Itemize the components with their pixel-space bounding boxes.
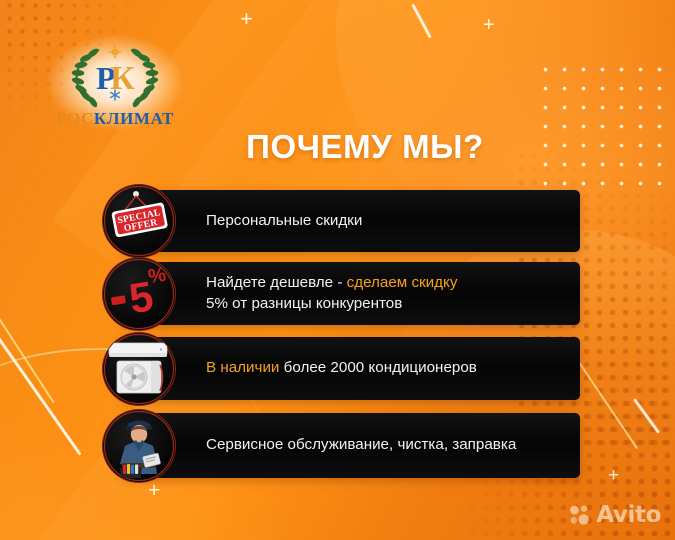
avito-logo-icon	[568, 503, 592, 527]
logo-wordmark-part1: РОС	[56, 109, 94, 128]
feature-row-service[interactable]: Сервисное обслуживание, чистка, заправка	[122, 413, 580, 478]
feature-text: Найдете дешевле - сделаем скидку 5% от р…	[206, 273, 469, 315]
feature-text: Сервисное обслуживание, чистка, заправка	[206, 435, 528, 456]
logo-wordmark-part2: КЛИМАТ	[94, 109, 174, 128]
decor-line	[0, 314, 82, 455]
logo-wordmark: РОСКЛИМАТ	[56, 109, 174, 129]
feature-text-plain: Найдете дешевле -	[206, 274, 347, 291]
feature-text-plain-2: более 2000 кондиционеров	[279, 359, 476, 376]
plus-icon	[483, 15, 495, 35]
feature-text-accent: В наличии	[206, 359, 279, 376]
avito-label: Avito	[596, 502, 661, 528]
feature-text-plain: Персональные скидки	[206, 212, 362, 229]
laurel-wreath-monogram-icon: Р К	[63, 42, 167, 108]
feature-text: Персональные скидки	[206, 211, 374, 232]
service-technician-icon	[102, 409, 176, 483]
percent-symbol: %	[147, 263, 168, 288]
feature-text-accent: сделаем скидку	[347, 274, 458, 291]
feature-row-price-match[interactable]: 5 % Найдете дешевле - сделаем скидку 5% …	[122, 262, 580, 325]
feature-text: В наличии более 2000 кондиционеров	[206, 358, 489, 379]
decor-line	[633, 398, 660, 434]
minus-five-percent-icon: 5 %	[102, 257, 176, 331]
decor-line	[0, 277, 54, 404]
company-logo: Р К РОСКЛИМАТ	[22, 22, 208, 148]
svg-text:К: К	[110, 60, 135, 97]
plus-icon	[240, 8, 253, 30]
special-offer-tag-icon: SPECIAL OFFER	[102, 184, 176, 258]
feature-row-personal-discounts[interactable]: SPECIAL OFFER Персональные скидки	[122, 190, 580, 252]
feature-row-stock[interactable]: В наличии более 2000 кондиционеров	[122, 337, 580, 400]
dot-grid-pattern	[536, 60, 664, 200]
avito-watermark: Avito	[568, 502, 661, 528]
feature-text-plain-2: 5% от разницы конкурентов	[206, 295, 402, 312]
decor-line	[411, 4, 431, 39]
page-title: ПОЧЕМУ МЫ?	[200, 130, 530, 163]
plus-icon	[608, 466, 619, 485]
promo-banner: Р К РОСКЛИМАТ ПОЧЕМУ МЫ?	[0, 0, 675, 540]
plus-icon	[148, 480, 160, 501]
air-conditioner-icon	[102, 332, 176, 406]
